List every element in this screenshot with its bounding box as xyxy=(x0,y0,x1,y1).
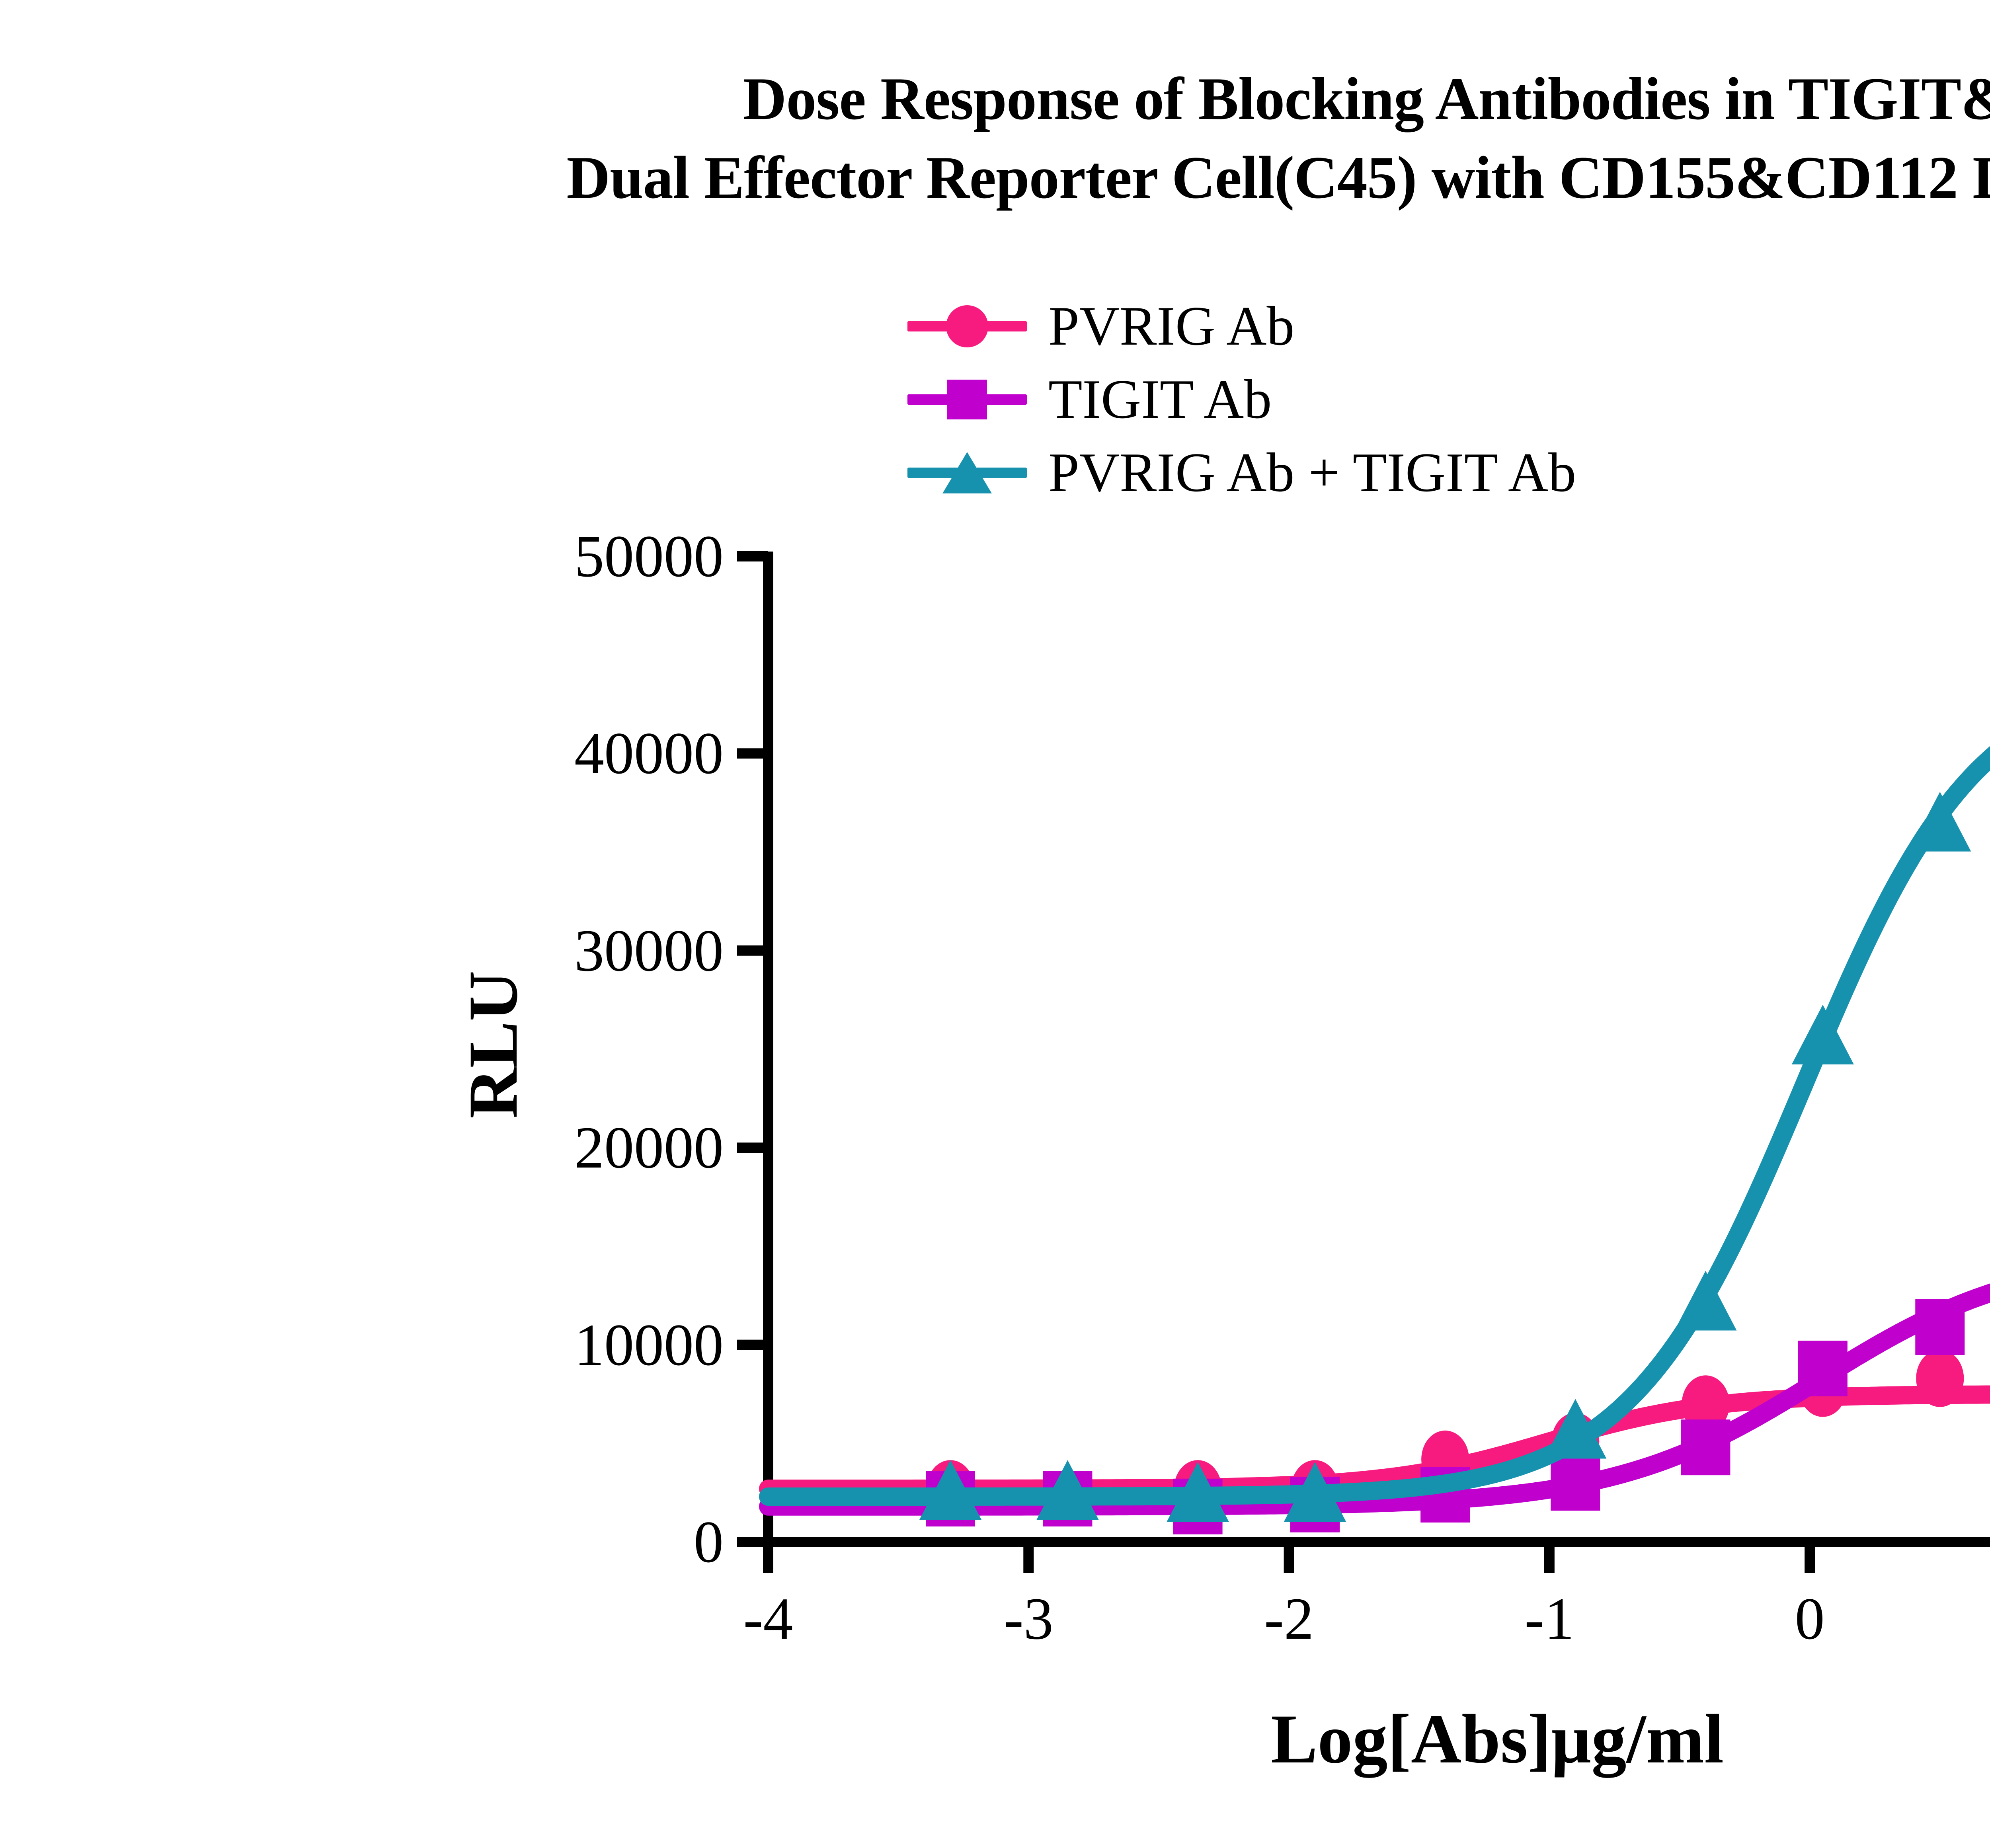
data-point-marker xyxy=(1173,1479,1223,1534)
legend-item-tigit-ab[interactable]: TIGIT Ab xyxy=(907,368,1576,431)
legend-item-pvrig-ab[interactable]: PVRIG Ab xyxy=(907,294,1576,358)
chart-title: Dose Response of Blocking Antibodies in … xyxy=(0,60,1990,217)
legend-key-pvrig-plus-tigit-ab xyxy=(907,451,1027,495)
x-axis-tick-label: -2 xyxy=(1264,1589,1314,1649)
plot-area xyxy=(0,0,1990,1848)
y-axis-tick-label: 40000 xyxy=(574,723,724,783)
data-point-marker xyxy=(1909,792,1971,852)
y-axis-tick-label: 20000 xyxy=(574,1118,724,1177)
chart-legend: PVRIG Ab TIGIT Ab PVRIG Ab + TIGIT Ab xyxy=(907,294,1576,505)
x-axis-title: Log[Abs]µg/ml xyxy=(609,1704,1990,1774)
chart-title-line-2: Dual Effector Reporter Cell(C45) with CD… xyxy=(0,138,1990,217)
data-point-marker xyxy=(1544,1399,1606,1459)
data-point-marker xyxy=(927,1460,974,1517)
legend-label-tigit-ab: TIGIT Ab xyxy=(1027,372,1272,427)
data-point-marker xyxy=(919,1460,981,1520)
data-point-marker xyxy=(1551,1455,1600,1511)
x-axis-tick-label: 0 xyxy=(1795,1589,1825,1649)
data-point-marker xyxy=(926,1471,975,1526)
data-point-marker xyxy=(1674,1271,1736,1331)
data-point-marker xyxy=(1284,1462,1346,1522)
legend-label-pvrig-plus-tigit-ab: PVRIG Ab + TIGIT Ab xyxy=(1027,445,1576,501)
y-axis-tick-label: 10000 xyxy=(574,1315,724,1375)
legend-label-pvrig-ab: PVRIG Ab xyxy=(1027,298,1294,354)
square-marker-icon xyxy=(947,380,987,419)
data-point-marker xyxy=(1043,1471,1092,1526)
chart-title-line-1: Dose Response of Blocking Antibodies in … xyxy=(0,60,1990,138)
plot-canvas xyxy=(0,0,1990,1848)
data-point-marker xyxy=(1291,1460,1339,1517)
circle-marker-icon xyxy=(946,305,988,347)
y-axis-tick-label: 0 xyxy=(694,1512,724,1572)
data-point-marker xyxy=(1551,1413,1599,1470)
triangle-marker-icon xyxy=(942,452,992,493)
data-point-marker xyxy=(1792,1005,1854,1064)
series-curve xyxy=(768,1394,1990,1489)
legend-item-pvrig-plus-tigit-ab[interactable]: PVRIG Ab + TIGIT Ab xyxy=(907,441,1576,505)
data-point-marker xyxy=(1799,1360,1847,1417)
x-axis-tick-label: -3 xyxy=(1004,1589,1054,1649)
x-axis-tick-label: -1 xyxy=(1524,1589,1574,1649)
data-point-marker xyxy=(1916,1350,1964,1407)
x-axis-tick-label: -4 xyxy=(743,1589,793,1649)
data-point-marker xyxy=(1290,1477,1340,1532)
axes-group xyxy=(737,552,1990,1573)
y-axis-title: RLU xyxy=(458,933,529,1156)
legend-key-tigit-ab xyxy=(907,378,1027,421)
y-axis-tick-label: 30000 xyxy=(574,921,724,981)
legend-key-pvrig-ab xyxy=(907,304,1027,348)
series-1 xyxy=(768,1350,1990,1517)
data-point-marker xyxy=(1420,1467,1470,1522)
data-point-marker xyxy=(1798,1341,1848,1396)
series-curve xyxy=(768,1258,1990,1507)
series-3 xyxy=(768,636,1990,1522)
chart-figure: Dose Response of Blocking Antibodies in … xyxy=(0,0,1990,1848)
data-point-marker xyxy=(1421,1431,1469,1488)
data-point-marker xyxy=(1682,1375,1729,1433)
data-point-marker xyxy=(1036,1460,1098,1520)
series-2 xyxy=(768,1224,1990,1534)
data-point-marker xyxy=(1174,1460,1222,1517)
data-point-marker xyxy=(1915,1299,1965,1355)
series-curve xyxy=(768,679,1990,1497)
data-point-marker xyxy=(1167,1462,1229,1522)
y-axis-tick-label: 50000 xyxy=(574,526,724,586)
data-point-marker xyxy=(1681,1419,1730,1475)
